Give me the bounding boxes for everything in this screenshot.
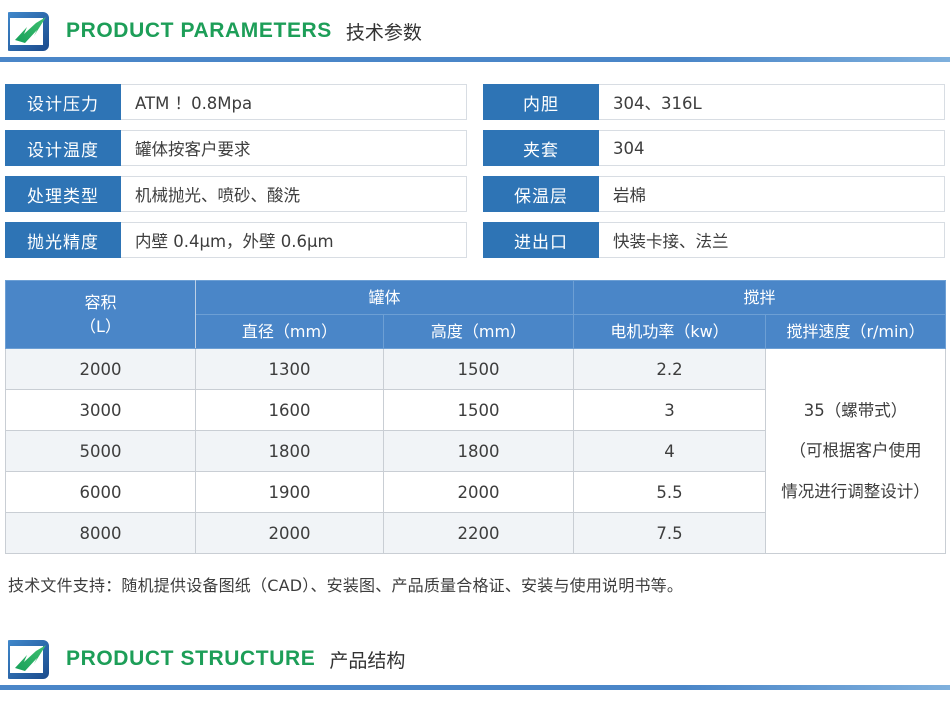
section-header-structure: PRODUCT STRUCTURE 产品结构 bbox=[0, 628, 950, 690]
parameter-label: 设计压力 bbox=[5, 84, 121, 120]
cell-motor-power: 3 bbox=[574, 390, 766, 431]
cell-motor-power: 4 bbox=[574, 431, 766, 472]
col-header-diameter: 直径（mm） bbox=[196, 315, 384, 349]
cell-height: 1800 bbox=[384, 431, 574, 472]
section-header-parameters: PRODUCT PARAMETERS 技术参数 bbox=[0, 0, 950, 62]
parameter-value: 内壁 0.4μm，外壁 0.6μm bbox=[121, 223, 466, 257]
spec-table-container: 容积 （L） 罐体 搅拌 直径（mm） 高度（mm） 电机功率（kw） 搅拌速度… bbox=[0, 280, 950, 554]
col-header-stir-speed: 搅拌速度（r/min） bbox=[766, 315, 946, 349]
cell-stir-speed-note: 35（螺带式） （可根据客户使用 情况进行调整设计） bbox=[766, 349, 946, 554]
logo-square-lightning-icon bbox=[8, 12, 50, 52]
parameter-value: ATM ！0.8Mpa bbox=[121, 85, 466, 119]
parameter-grid: 设计压力 ATM ！0.8Mpa 设计温度 罐体按客户要求 处理类型 机械抛光、… bbox=[0, 84, 950, 268]
parameter-row: 抛光精度 内壁 0.4μm，外壁 0.6μm bbox=[5, 222, 467, 258]
parameter-label: 处理类型 bbox=[5, 176, 121, 212]
parameter-value: 岩棉 bbox=[599, 177, 944, 211]
cell-diameter: 1300 bbox=[196, 349, 384, 390]
parameter-label: 保温层 bbox=[483, 176, 599, 212]
parameter-value: 快装卡接、法兰 bbox=[599, 223, 944, 257]
cell-motor-power: 5.5 bbox=[574, 472, 766, 513]
parameter-value: 机械抛光、喷砂、酸洗 bbox=[121, 177, 466, 211]
spec-table-header-row-1: 容积 （L） 罐体 搅拌 bbox=[6, 281, 946, 315]
stir-note-line-1: 35（螺带式） bbox=[768, 391, 943, 431]
section-title-cn: 产品结构 bbox=[329, 646, 405, 673]
section-title-en: PRODUCT STRUCTURE bbox=[66, 647, 315, 671]
parameter-column-left: 设计压力 ATM ！0.8Mpa 设计温度 罐体按客户要求 处理类型 机械抛光、… bbox=[5, 84, 467, 268]
logo-square-lightning-icon bbox=[8, 640, 50, 680]
parameter-value: 304、316L bbox=[599, 85, 944, 119]
cell-volume: 8000 bbox=[6, 513, 196, 554]
cell-volume: 3000 bbox=[6, 390, 196, 431]
parameter-row: 保温层 岩棉 bbox=[483, 176, 945, 212]
col-header-height: 高度（mm） bbox=[384, 315, 574, 349]
stir-note-line-3: 情况进行调整设计） bbox=[768, 472, 943, 512]
parameter-label: 进出口 bbox=[483, 222, 599, 258]
col-header-volume: 容积 （L） bbox=[6, 281, 196, 349]
cell-diameter: 1800 bbox=[196, 431, 384, 472]
stir-note-line-2: （可根据客户使用 bbox=[768, 431, 943, 471]
parameter-column-right: 内胆 304、316L 夹套 304 保温层 岩棉 进出口 快装卡接、法兰 bbox=[483, 84, 945, 268]
col-header-motor-power: 电机功率（kw） bbox=[574, 315, 766, 349]
parameter-value: 304 bbox=[599, 131, 944, 165]
cell-volume: 2000 bbox=[6, 349, 196, 390]
parameter-label: 夹套 bbox=[483, 130, 599, 166]
section-title-en: PRODUCT PARAMETERS bbox=[66, 19, 332, 43]
cell-motor-power: 7.5 bbox=[574, 513, 766, 554]
cell-diameter: 1900 bbox=[196, 472, 384, 513]
cell-height: 2200 bbox=[384, 513, 574, 554]
section-spacer bbox=[0, 596, 950, 628]
cell-height: 1500 bbox=[384, 349, 574, 390]
parameter-row: 设计温度 罐体按客户要求 bbox=[5, 130, 467, 166]
spec-table-head: 容积 （L） 罐体 搅拌 直径（mm） 高度（mm） 电机功率（kw） 搅拌速度… bbox=[6, 281, 946, 349]
cell-motor-power: 2.2 bbox=[574, 349, 766, 390]
parameter-label: 内胆 bbox=[483, 84, 599, 120]
cell-diameter: 2000 bbox=[196, 513, 384, 554]
parameter-label: 抛光精度 bbox=[5, 222, 121, 258]
parameter-row: 处理类型 机械抛光、喷砂、酸洗 bbox=[5, 176, 467, 212]
group-header-stir: 搅拌 bbox=[574, 281, 946, 315]
parameter-row: 夹套 304 bbox=[483, 130, 945, 166]
parameter-row: 内胆 304、316L bbox=[483, 84, 945, 120]
col-header-volume-line1: 容积 bbox=[8, 291, 193, 315]
parameter-row: 进出口 快装卡接、法兰 bbox=[483, 222, 945, 258]
cell-diameter: 1600 bbox=[196, 390, 384, 431]
cell-height: 1500 bbox=[384, 390, 574, 431]
cell-volume: 5000 bbox=[6, 431, 196, 472]
cell-height: 2000 bbox=[384, 472, 574, 513]
spec-table: 容积 （L） 罐体 搅拌 直径（mm） 高度（mm） 电机功率（kw） 搅拌速度… bbox=[5, 280, 946, 554]
parameter-value: 罐体按客户要求 bbox=[121, 131, 466, 165]
col-header-volume-line2: （L） bbox=[8, 315, 193, 339]
parameter-row: 设计压力 ATM ！0.8Mpa bbox=[5, 84, 467, 120]
table-row: 2000 1300 1500 2.2 35（螺带式） （可根据客户使用 情况进行… bbox=[6, 349, 946, 390]
section-divider-rule bbox=[0, 685, 950, 690]
technical-documents-footnote: 技术文件支持：随机提供设备图纸（CAD）、安装图、产品质量合格证、安装与使用说明… bbox=[0, 554, 950, 596]
group-header-tank: 罐体 bbox=[196, 281, 574, 315]
section-title-cn: 技术参数 bbox=[346, 18, 422, 45]
parameter-label: 设计温度 bbox=[5, 130, 121, 166]
cell-volume: 6000 bbox=[6, 472, 196, 513]
section-divider-rule bbox=[0, 57, 950, 62]
spec-table-body: 2000 1300 1500 2.2 35（螺带式） （可根据客户使用 情况进行… bbox=[6, 349, 946, 554]
